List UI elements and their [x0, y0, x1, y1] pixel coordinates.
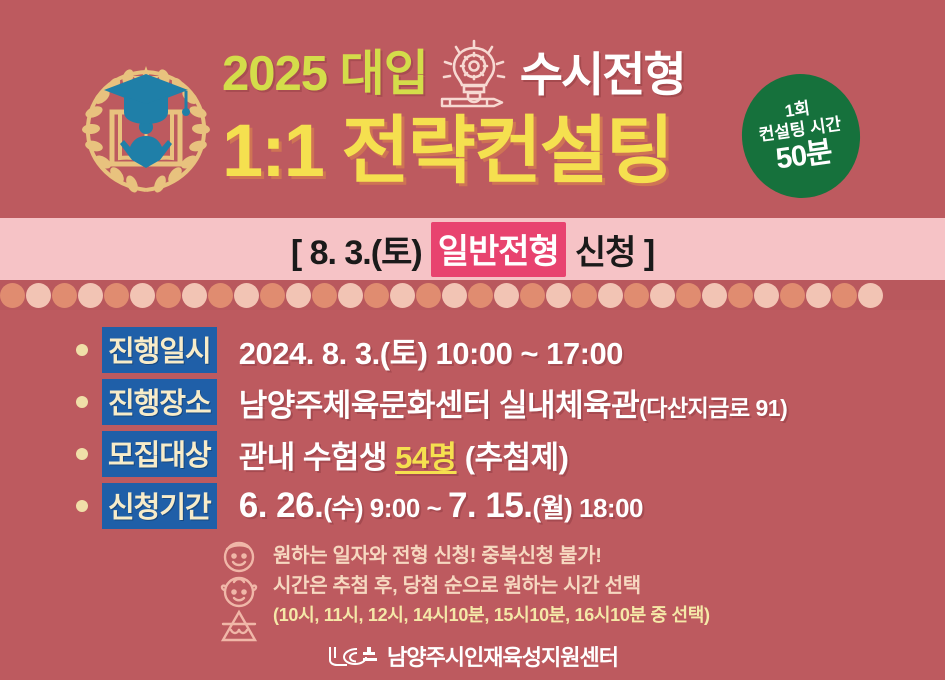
info-value-datetime: 2024. 8. 3.(토) 10:00 ~ 17:00 — [239, 328, 623, 373]
divider-dot — [858, 283, 883, 308]
note-line-1: 원하는 일자와 전형 신청! 중복신청 불가! — [273, 541, 710, 571]
divider-dot — [416, 283, 441, 308]
divider-dot — [650, 283, 675, 308]
divider-dot — [442, 283, 467, 308]
location-name: 남양주체육문화센터 실내체육관 — [239, 388, 639, 423]
divider-dot — [312, 283, 337, 308]
academic-laurel-crest-icon — [72, 52, 220, 202]
lightbulb-gear-pencil-icon — [436, 37, 512, 111]
footer: 남양주시인재육성지원센터 — [0, 640, 945, 672]
hero-text-block: 2025 대입 — [222, 38, 732, 190]
application-banner: [ 8. 3.(토) 일반전형 신청 ] — [0, 218, 945, 280]
info-tag-datetime: 진행일시 — [102, 327, 217, 373]
period-start-time: (수) 9:00 ~ — [323, 493, 448, 523]
divider-dot — [572, 283, 597, 308]
bullet-icon — [76, 344, 88, 356]
organization-name: 남양주시인재육성지원센터 — [387, 640, 618, 672]
badge-line-1: 1회 — [784, 98, 812, 120]
info-row-period: 신청기간 6. 26.(수) 9:00 ~ 7. 15.(월) 18:00 — [0, 480, 945, 532]
location-address: (다산지금로 91) — [639, 395, 787, 421]
divider-dot — [520, 283, 545, 308]
consulting-duration-badge: 1회 컨설팅 시간 50분 — [734, 66, 868, 205]
info-tag-period: 신청기간 — [102, 483, 217, 529]
info-row-datetime: 진행일시 2024. 8. 3.(토) 10:00 ~ 17:00 — [0, 324, 945, 376]
period-end-time: (월) 18:00 — [533, 493, 643, 523]
bullet-icon — [76, 448, 88, 460]
divider-dot — [26, 283, 51, 308]
divider-dot — [104, 283, 129, 308]
divider-dot — [260, 283, 285, 308]
divider-dot — [728, 283, 753, 308]
notes-section: 원하는 일자와 전형 신청! 중복신청 불가! 시간은 추첨 후, 당첨 순으로… — [0, 538, 945, 644]
info-tag-location: 진행장소 — [102, 379, 217, 425]
bullet-icon — [76, 396, 88, 408]
divider-dot — [338, 283, 363, 308]
main-title: 1:1 전략컨설팅 — [222, 112, 732, 190]
target-post: (추첨제) — [465, 440, 569, 475]
divider-dot — [52, 283, 77, 308]
divider-dot — [598, 283, 623, 308]
divider-dot — [0, 283, 25, 308]
divider-dot — [234, 283, 259, 308]
hero-line-1: 2025 대입 — [222, 38, 732, 110]
target-count: 54명 — [395, 440, 457, 475]
note-line-2: 시간은 추첨 후, 당첨 순으로 원하는 시간 선택 — [273, 571, 710, 601]
three-smiley-faces-icon — [213, 540, 265, 644]
divider-dot — [182, 283, 207, 308]
hero-section: 2025 대입 — [0, 0, 945, 218]
divider-dot — [702, 283, 727, 308]
info-row-target: 모집대상 관내 수험생 54명 (추첨제) — [0, 428, 945, 480]
note-lines: 원하는 일자와 전형 신청! 중복신청 불가! 시간은 추첨 후, 당첨 순으로… — [273, 538, 710, 629]
info-row-location: 진행장소 남양주체육문화센터 실내체육관(다산지금로 91) — [0, 376, 945, 428]
note-line-3: (10시, 11시, 12시, 14시10분, 15시10분, 16시10분 중… — [273, 602, 710, 629]
namyangju-center-logo-icon — [327, 643, 379, 669]
info-value-target: 관내 수험생 54명 (추첨제) — [239, 432, 569, 477]
badge-line-3: 50분 — [774, 136, 834, 176]
banner-prefix: [ 8. 3.(토) — [291, 225, 422, 274]
banner-highlight: 일반전형 — [431, 222, 566, 277]
info-tag-target: 모집대상 — [102, 431, 217, 477]
divider-dot — [494, 283, 519, 308]
banner-text: [ 8. 3.(토) 일반전형 신청 ] — [291, 222, 654, 277]
info-list: 진행일시 2024. 8. 3.(토) 10:00 ~ 17:00 진행장소 남… — [0, 310, 945, 532]
dot-divider — [0, 280, 945, 310]
period-end-date: 7. 15. — [448, 486, 533, 525]
divider-dot — [546, 283, 571, 308]
target-pre: 관내 수험생 — [239, 440, 387, 475]
banner-suffix: 신청 ] — [575, 225, 654, 274]
divider-dot — [676, 283, 701, 308]
divider-dot — [156, 283, 181, 308]
divider-dot — [390, 283, 415, 308]
divider-dot — [806, 283, 831, 308]
divider-dot — [754, 283, 779, 308]
divider-dot — [364, 283, 389, 308]
year-label: 2025 대입 — [222, 50, 428, 99]
divider-dot — [130, 283, 155, 308]
bullet-icon — [76, 500, 88, 512]
divider-dot — [832, 283, 857, 308]
admission-type-label: 수시전형 — [520, 51, 685, 98]
divider-dot — [78, 283, 103, 308]
info-value-period: 6. 26.(수) 9:00 ~ 7. 15.(월) 18:00 — [239, 486, 643, 526]
divider-dot — [208, 283, 233, 308]
divider-dot — [468, 283, 493, 308]
divider-dot — [780, 283, 805, 308]
poster-root: 2025 대입 — [0, 0, 945, 680]
divider-dot — [624, 283, 649, 308]
period-start-date: 6. 26. — [239, 486, 324, 525]
info-value-location: 남양주체육문화센터 실내체육관(다산지금로 91) — [239, 380, 788, 425]
divider-dot — [286, 283, 311, 308]
